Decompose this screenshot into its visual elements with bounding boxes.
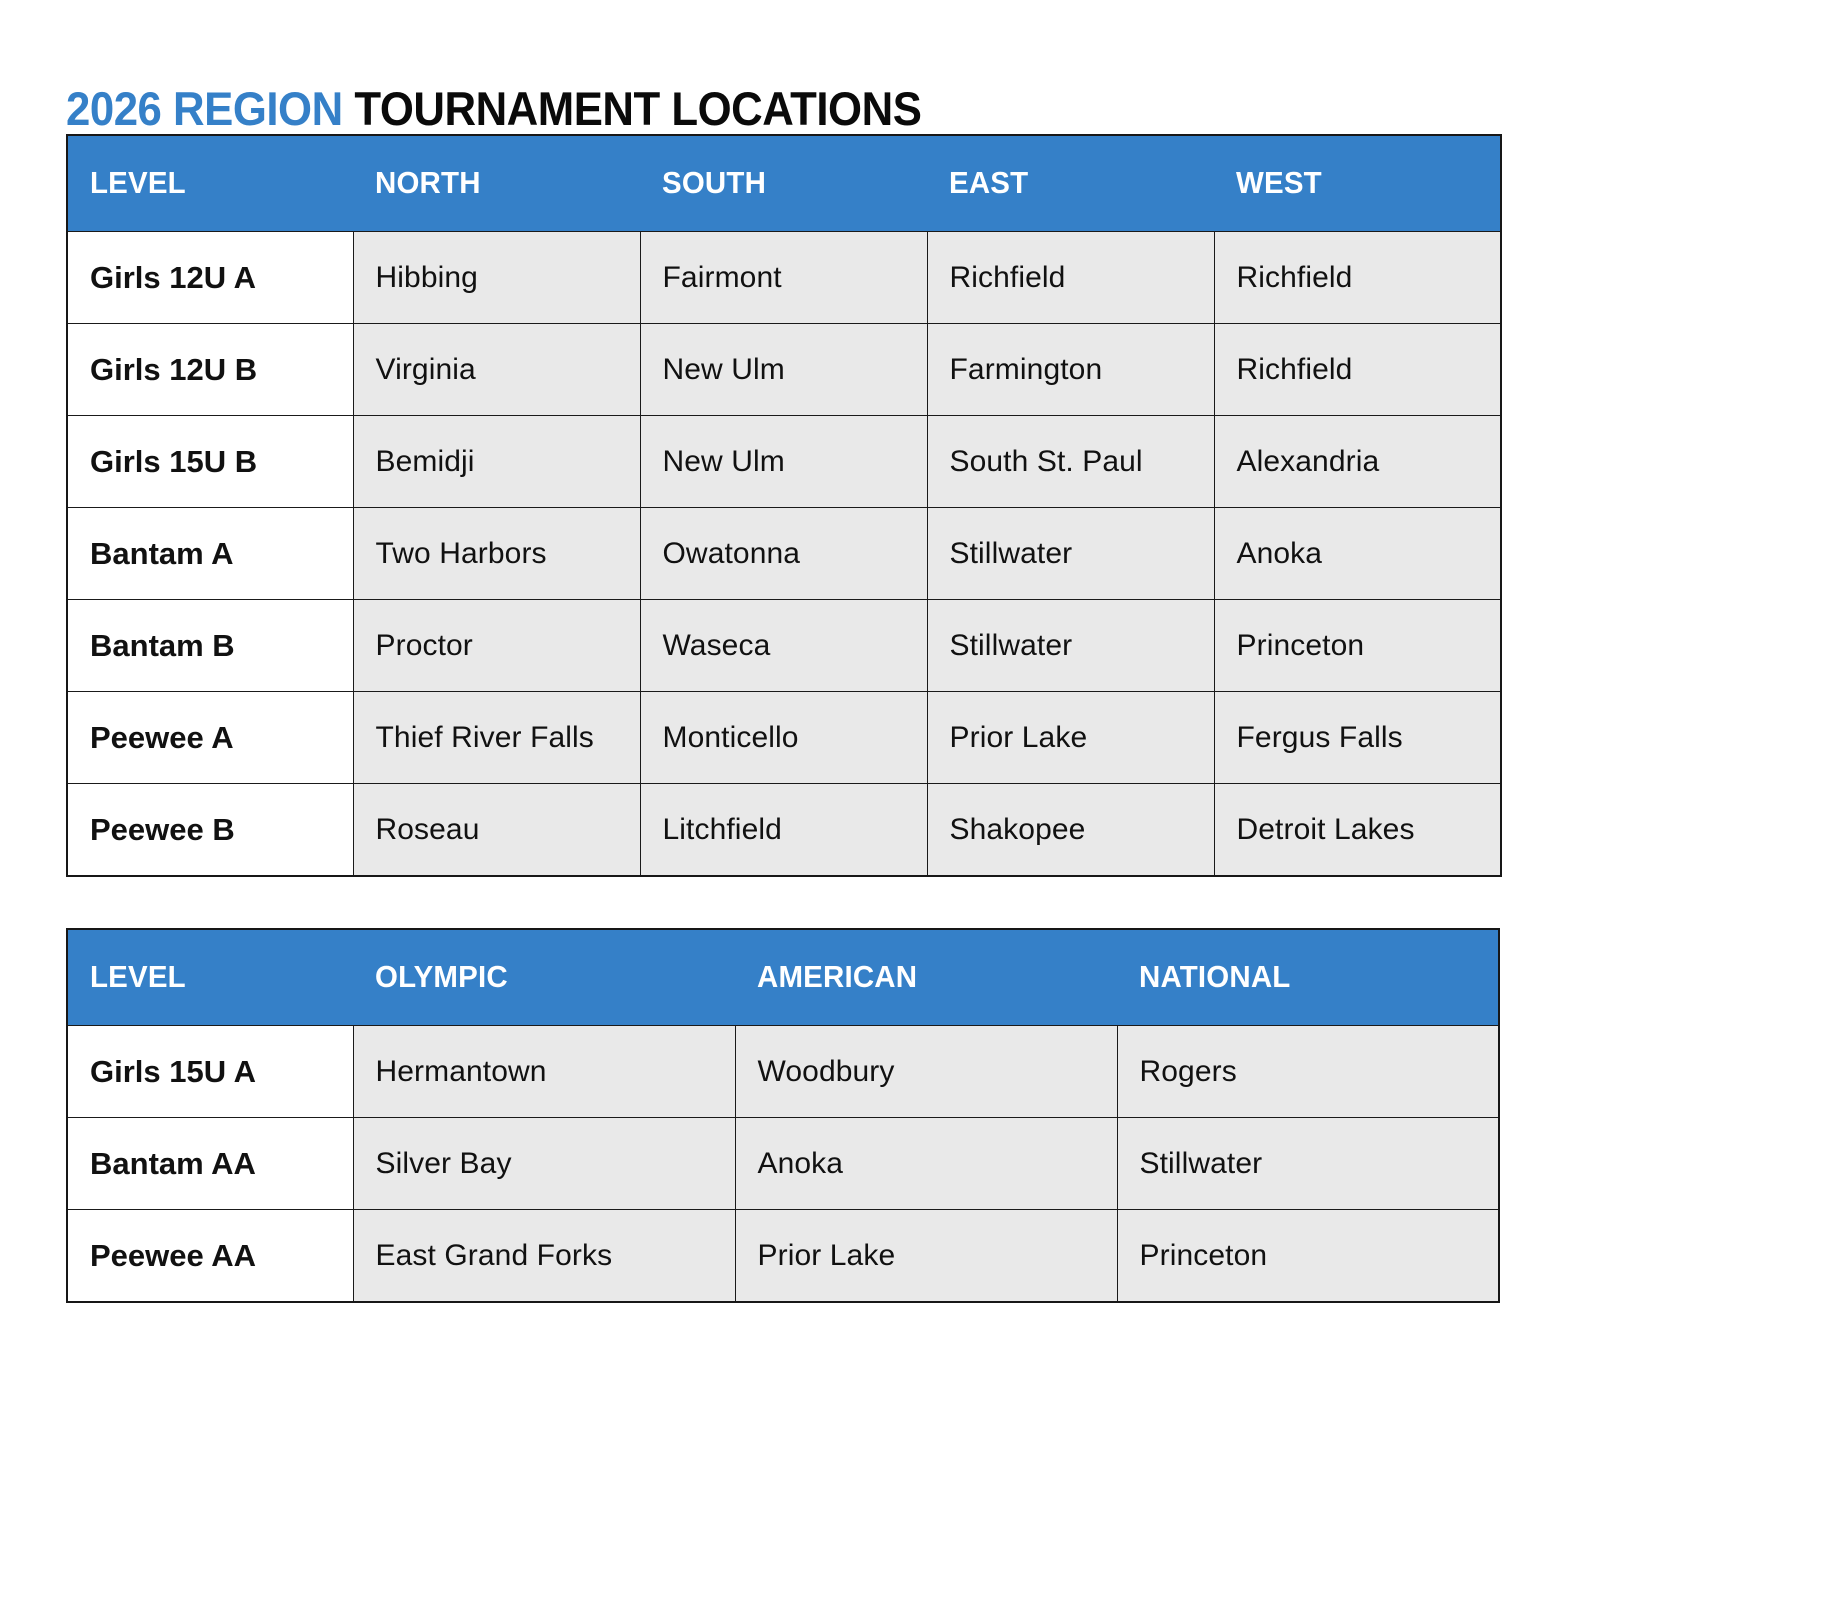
cell-olympic: Silver Bay (353, 1118, 735, 1210)
cell-west: Princeton (1214, 600, 1501, 692)
column-header-north: NORTH (353, 135, 640, 232)
table-row: Girls 15U B Bemidji New Ulm South St. Pa… (67, 416, 1501, 508)
table-header-row: LEVEL NORTH SOUTH EAST WEST (67, 135, 1501, 232)
cell-north: Two Harbors (353, 508, 640, 600)
cell-north: Virginia (353, 324, 640, 416)
page-title-accent: 2026 REGION (66, 82, 343, 135)
column-header-level-label: LEVEL (90, 166, 186, 200)
table-row: Girls 15U A Hermantown Woodbury Rogers (67, 1026, 1499, 1118)
level-label: Bantam A (67, 508, 353, 600)
cell-american: Prior Lake (735, 1210, 1117, 1303)
cell-south: Litchfield (640, 784, 927, 877)
cell-east: South St. Paul (927, 416, 1214, 508)
level-label: Bantam B (67, 600, 353, 692)
column-header-american: AMERICAN (735, 929, 1117, 1026)
table-row: Bantam B Proctor Waseca Stillwater Princ… (67, 600, 1501, 692)
cell-east: Shakopee (927, 784, 1214, 877)
page-root: 2026 REGION TOURNAMENT LOCATIONS LEVEL N… (0, 0, 1847, 1619)
table-row: Peewee A Thief River Falls Monticello Pr… (67, 692, 1501, 784)
cell-american: Woodbury (735, 1026, 1117, 1118)
cell-east: Richfield (927, 232, 1214, 324)
cell-national: Princeton (1117, 1210, 1499, 1303)
column-header-level-label: LEVEL (90, 960, 186, 994)
cell-south: Fairmont (640, 232, 927, 324)
column-header-west-label: WEST (1236, 166, 1322, 200)
cell-olympic: Hermantown (353, 1026, 735, 1118)
column-header-west: WEST (1214, 135, 1501, 232)
cell-south: Owatonna (640, 508, 927, 600)
cell-south: New Ulm (640, 324, 927, 416)
column-header-national: NATIONAL (1117, 929, 1499, 1026)
level-label: Girls 12U A (67, 232, 353, 324)
cell-west: Richfield (1214, 324, 1501, 416)
table-row: Girls 12U B Virginia New Ulm Farmington … (67, 324, 1501, 416)
cell-north: Bemidji (353, 416, 640, 508)
cell-national: Rogers (1117, 1026, 1499, 1118)
level-label: Girls 15U A (67, 1026, 353, 1118)
table-row: Bantam A Two Harbors Owatonna Stillwater… (67, 508, 1501, 600)
column-header-olympic: OLYMPIC (353, 929, 735, 1026)
cell-east: Stillwater (927, 600, 1214, 692)
cell-south: Waseca (640, 600, 927, 692)
cell-american: Anoka (735, 1118, 1117, 1210)
table-tiers-head: LEVEL OLYMPIC AMERICAN NATIONAL (67, 929, 1499, 1026)
column-header-level: LEVEL (67, 135, 353, 232)
column-header-south-label: SOUTH (662, 166, 766, 200)
cell-west: Detroit Lakes (1214, 784, 1501, 877)
cell-north: Hibbing (353, 232, 640, 324)
column-header-olympic-label: OLYMPIC (375, 960, 508, 994)
column-header-east: EAST (927, 135, 1214, 232)
cell-west: Richfield (1214, 232, 1501, 324)
table-tiers-body: Girls 15U A Hermantown Woodbury Rogers B… (67, 1026, 1499, 1303)
table-header-row: LEVEL OLYMPIC AMERICAN NATIONAL (67, 929, 1499, 1026)
cell-south: Monticello (640, 692, 927, 784)
level-label: Girls 12U B (67, 324, 353, 416)
column-header-south: SOUTH (640, 135, 927, 232)
cell-west: Anoka (1214, 508, 1501, 600)
cell-west: Alexandria (1214, 416, 1501, 508)
region-tournament-table: LEVEL NORTH SOUTH EAST WEST Girls 12U A … (66, 134, 1500, 877)
table-row: Girls 12U A Hibbing Fairmont Richfield R… (67, 232, 1501, 324)
cell-west: Fergus Falls (1214, 692, 1501, 784)
column-header-north-label: NORTH (375, 166, 481, 200)
level-label: Peewee A (67, 692, 353, 784)
level-label: Peewee AA (67, 1210, 353, 1303)
table-regions-head: LEVEL NORTH SOUTH EAST WEST (67, 135, 1501, 232)
table-tiers: LEVEL OLYMPIC AMERICAN NATIONAL Girls 15… (66, 928, 1500, 1303)
tier-tournament-table: LEVEL OLYMPIC AMERICAN NATIONAL Girls 15… (66, 928, 1500, 1303)
cell-north: Roseau (353, 784, 640, 877)
column-header-level: LEVEL (67, 929, 353, 1026)
column-header-american-label: AMERICAN (757, 960, 917, 994)
cell-national: Stillwater (1117, 1118, 1499, 1210)
column-header-national-label: NATIONAL (1139, 960, 1290, 994)
table-row: Peewee B Roseau Litchfield Shakopee Detr… (67, 784, 1501, 877)
cell-east: Farmington (927, 324, 1214, 416)
level-label: Peewee B (67, 784, 353, 877)
level-label: Girls 15U B (67, 416, 353, 508)
table-row: Bantam AA Silver Bay Anoka Stillwater (67, 1118, 1499, 1210)
page-title-rest: TOURNAMENT LOCATIONS (343, 82, 922, 135)
column-header-east-label: EAST (949, 166, 1028, 200)
page-title: 2026 REGION TOURNAMENT LOCATIONS (66, 79, 921, 139)
cell-east: Prior Lake (927, 692, 1214, 784)
table-row: Peewee AA East Grand Forks Prior Lake Pr… (67, 1210, 1499, 1303)
level-label: Bantam AA (67, 1118, 353, 1210)
cell-north: Thief River Falls (353, 692, 640, 784)
cell-east: Stillwater (927, 508, 1214, 600)
cell-south: New Ulm (640, 416, 927, 508)
cell-north: Proctor (353, 600, 640, 692)
table-regions: LEVEL NORTH SOUTH EAST WEST Girls 12U A … (66, 134, 1502, 877)
cell-olympic: East Grand Forks (353, 1210, 735, 1303)
table-regions-body: Girls 12U A Hibbing Fairmont Richfield R… (67, 232, 1501, 877)
